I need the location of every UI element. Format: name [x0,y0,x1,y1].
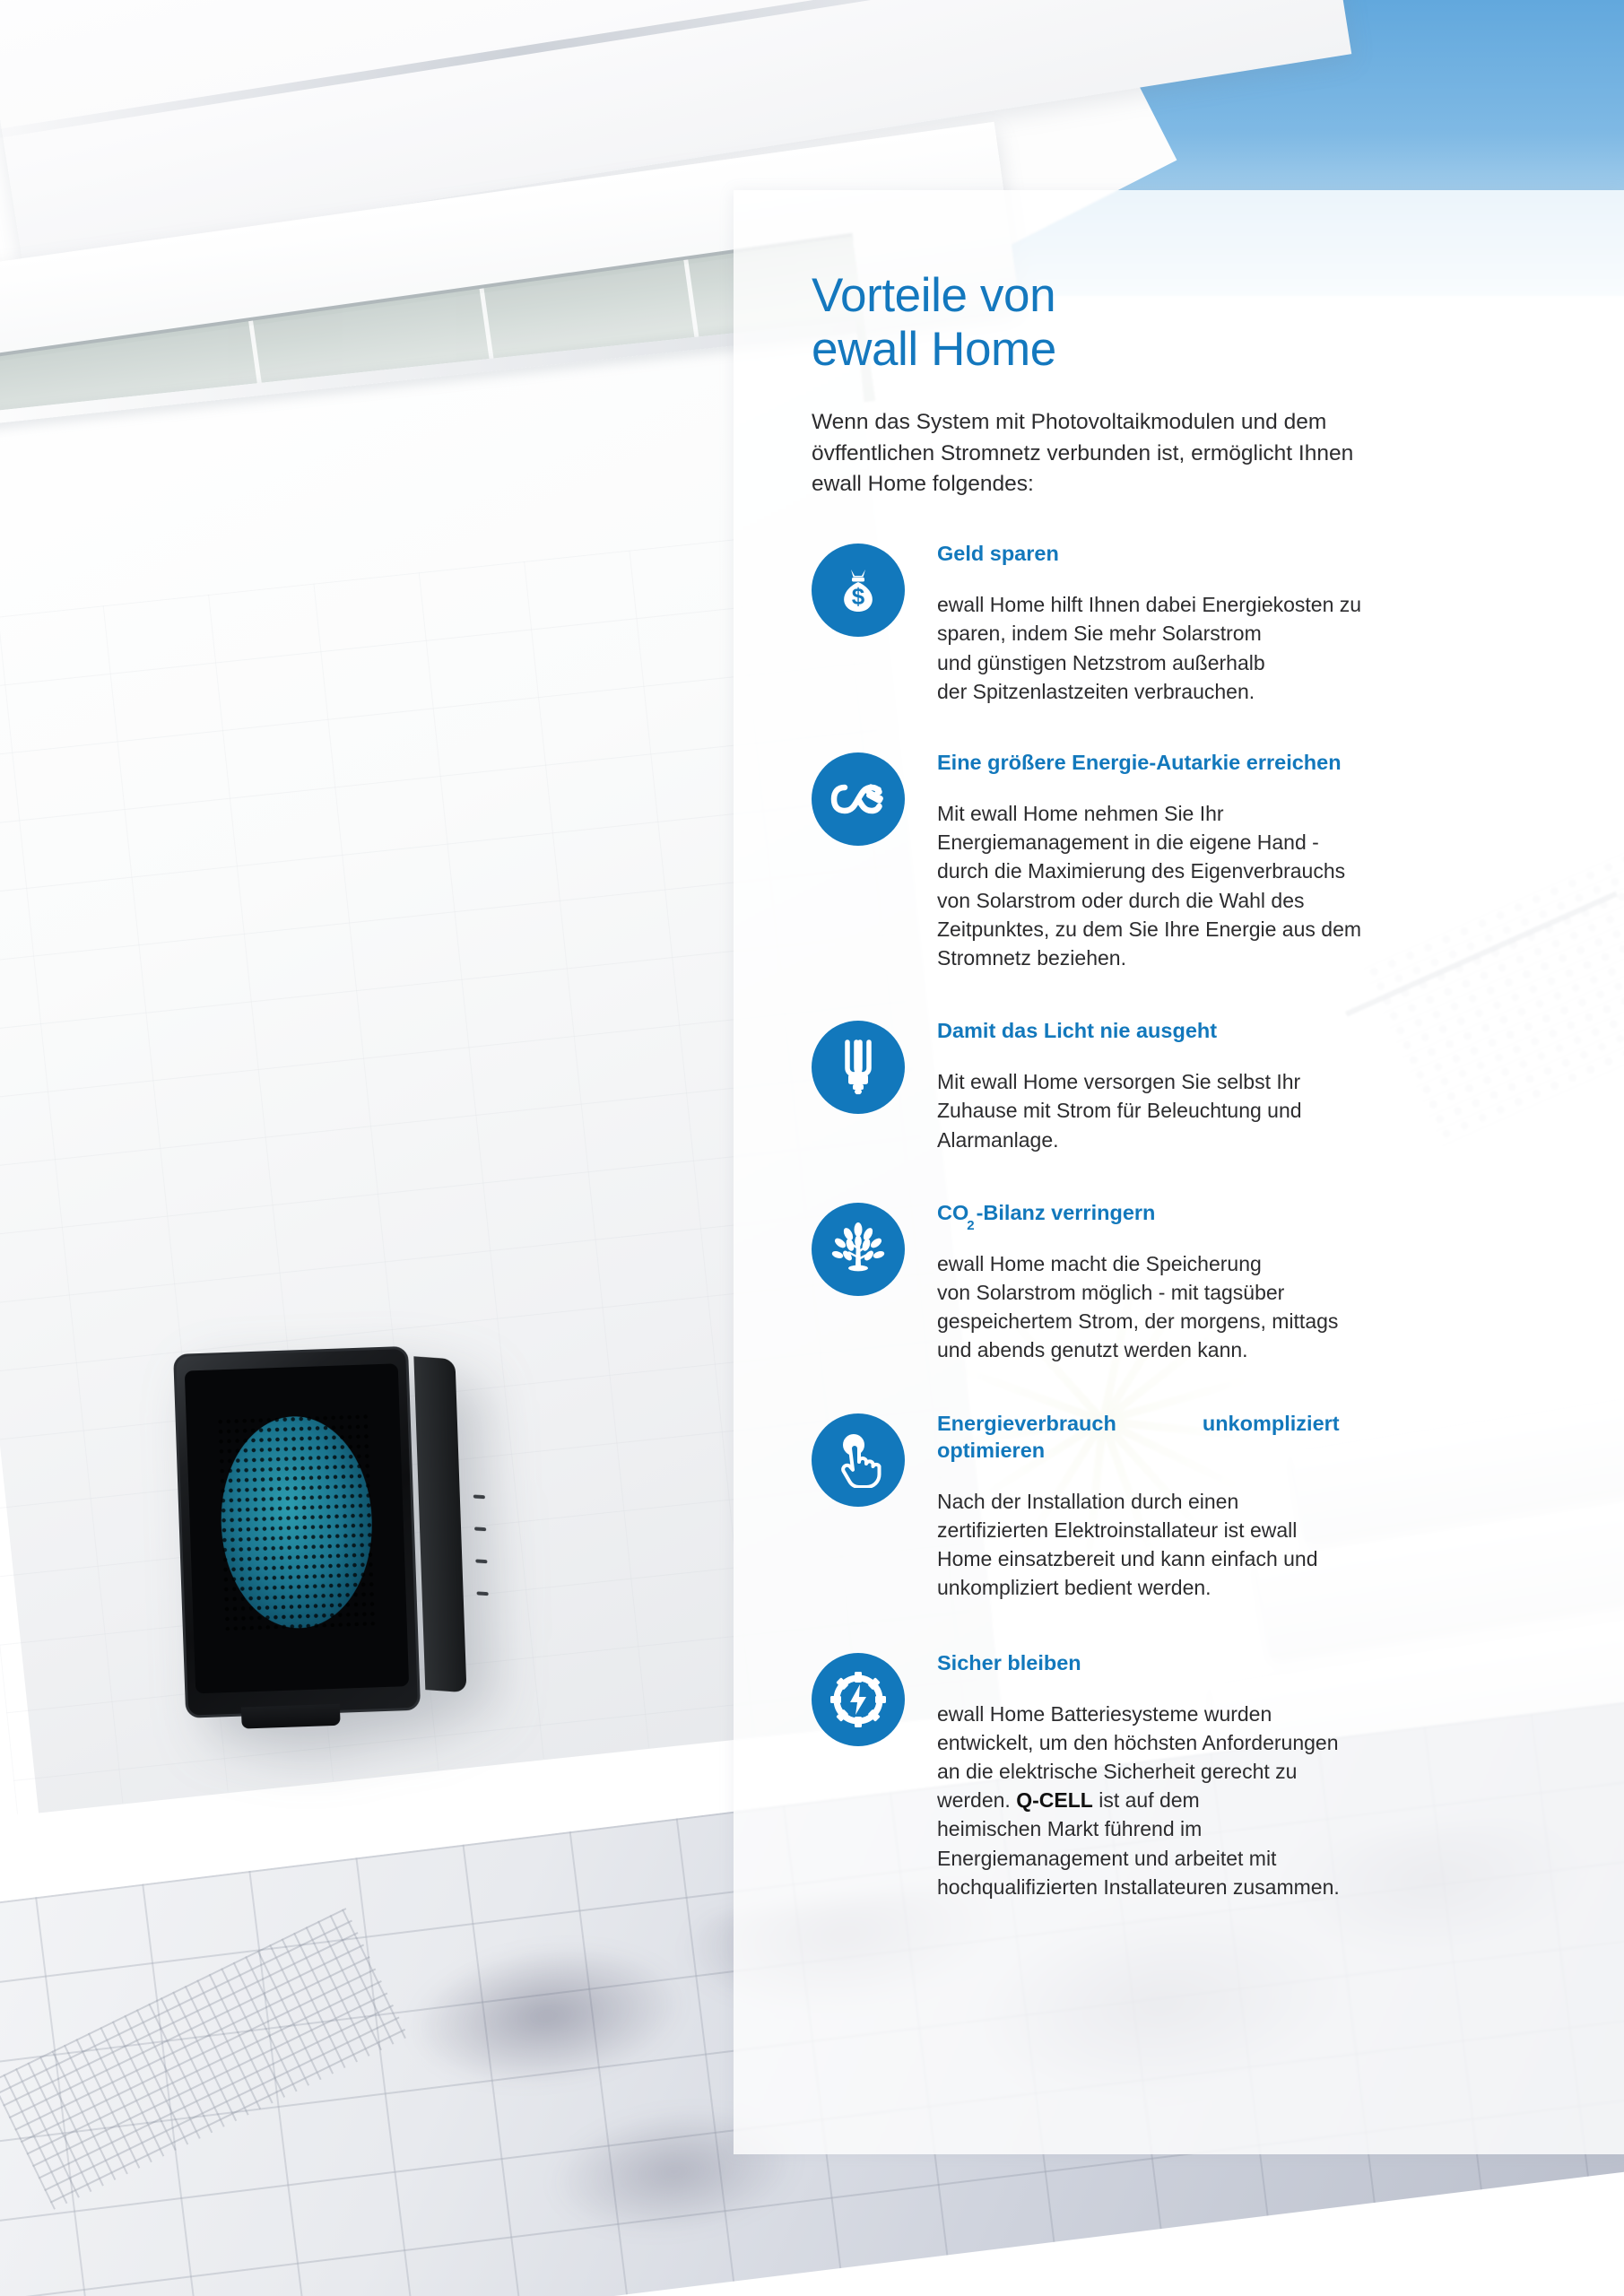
tree-icon [812,1203,905,1296]
page-title: Vorteile von ewall Home [812,269,1565,377]
benefit-item-licht: Damit das Licht nie ausgeht Mit ewall Ho… [812,1017,1565,1154]
benefit-body: ewall Home Batteriesysteme wurden entwic… [937,1700,1565,1901]
infinity-plug-icon [812,752,905,846]
benefit-body: Nach der Installation durch einen zertif… [937,1487,1565,1603]
svg-text:$: $ [852,583,865,610]
ewall-home-battery-device [173,1345,437,1713]
device-grille-oval [218,1413,376,1631]
benefit-heading: Geld sparen [937,540,1565,567]
benefit-heading: Eine größere Energie-Autarkie erreichen [937,749,1565,776]
benefit-item-energieverbrauch: Energieverbrauchunkompliziertoptimieren … [812,1410,1565,1603]
benefit-item-energie-autarkie: Eine größere Energie-Autarkie erreichen … [812,749,1565,972]
money-bag-icon: $ [812,544,905,637]
benefit-heading-co: CO [937,1201,968,1224]
device-front-panel [173,1346,421,1718]
benefit-item-sicher-bleiben: Sicher bleiben ewall Home Batteriesystem… [812,1649,1565,1901]
benefit-body: ewall Home macht die Speicherung von Sol… [937,1249,1565,1365]
content-column: Vorteile von ewall Home Wenn das System … [812,269,1565,1901]
gear-bolt-icon [812,1653,905,1746]
benefit-heading: Energieverbrauchunkompliziertoptimieren [937,1410,1565,1464]
benefit-heading-extra: unkompliziert [1203,1412,1340,1435]
intro-paragraph: Wenn das System mit Photovoltaikmodulen … [812,407,1475,500]
device-foot [241,1704,341,1729]
benefit-body-brand: Q-CELL [1016,1788,1093,1812]
benefit-body: Mit ewall Home nehmen Sie Ihr Energieman… [937,799,1565,972]
benefit-heading-tail: -Bilanz verringern [977,1201,1156,1224]
cfl-bulb-icon [812,1021,905,1114]
benefit-item-co2: CO2-Bilanz verringern ewall Home macht d… [812,1199,1565,1365]
hand-tap-icon [812,1413,905,1507]
benefit-heading: Sicher bleiben [937,1649,1565,1676]
benefit-heading: Damit das Licht nie ausgeht [937,1017,1565,1044]
benefit-heading-line2: optimieren [937,1439,1045,1462]
benefit-item-geld-sparen: $ Geld sparen ewall Home hilft Ihnen dab… [812,540,1565,706]
benefit-heading-subscript: 2 [967,1218,974,1233]
benefit-body: ewall Home hilft Ihnen dabei Energiekost… [937,590,1565,706]
benefit-heading: CO2-Bilanz verringern [937,1199,1565,1226]
benefit-body: Mit ewall Home versorgen Sie selbst Ihr … [937,1067,1565,1154]
benefit-heading-main: Energieverbrauch [937,1412,1116,1435]
device-screen [185,1363,409,1693]
